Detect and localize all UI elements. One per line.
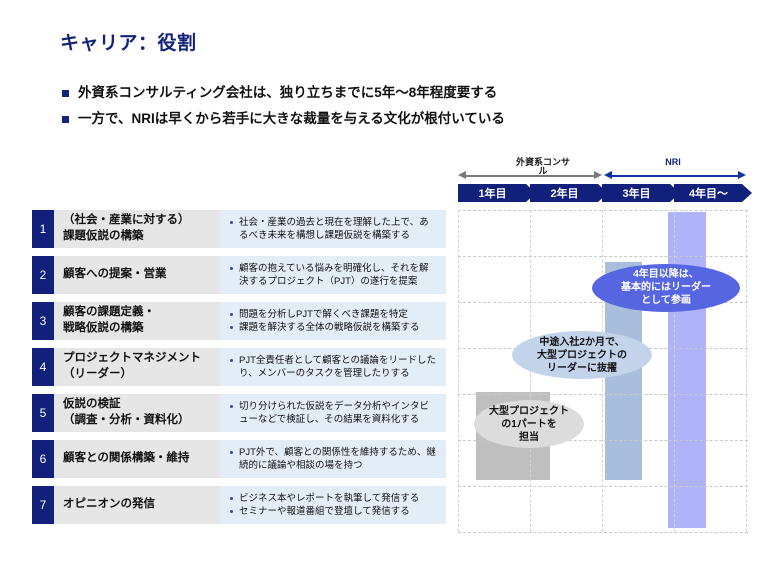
square-bullet-icon (62, 116, 69, 123)
column-separator (458, 210, 459, 532)
row-title: オピニオンの発信 (54, 486, 220, 524)
nri-span-arrow (604, 171, 746, 180)
dot-bullet-icon (230, 221, 233, 224)
row-title: 顧客との関係構築・維持 (54, 440, 220, 478)
column-separator (746, 210, 747, 532)
row-separator (458, 532, 748, 533)
span-label-nri: NRI (613, 158, 733, 167)
row-title: 仮説の検証 （調査・分析・資料化） (54, 394, 220, 432)
description-text: セミナーや報道番組で登壇して発信する (239, 505, 438, 518)
description-text: 課題を解決する全体の戦略仮説を構築する (239, 321, 438, 334)
description-text: 社会・産業の過去と現在を理解した上で、あるべき未来を構想し課題仮説を構築する (239, 216, 438, 243)
row-description: 顧客の抱えている悩みを明確化し、それを解決するプロジェクト（PJT）の遂行を提案 (220, 256, 446, 294)
description-line: 問題を分析しPJTで解くべき課題を特定 (230, 308, 438, 321)
row-title: （社会・産業に対する） 課題仮説の構築 (54, 210, 220, 248)
description-text: 切り分けられた仮説をデータ分析やインタビューなどで検証し、その結果を資料化する (239, 400, 438, 427)
description-line: 切り分けられた仮説をデータ分析やインタビューなどで検証し、その結果を資料化する (230, 400, 438, 427)
row-separator (458, 486, 748, 487)
bullet-item: 外資系コンサルティング会社は、独り立ちまでに5年～8年程度要する (62, 84, 702, 102)
table-row[interactable]: 7 オピニオンの発信 ビジネス本やレポートを執筆して発信する セミナーや報道番組… (32, 486, 446, 524)
row-description: ビジネス本やレポートを執筆して発信する セミナーや報道番組で登壇して発信する (220, 486, 446, 524)
callout-project-part: 大型プロジェクト の1パートを 担当 (474, 400, 584, 448)
description-line: ビジネス本やレポートを執筆して発信する (230, 492, 438, 505)
consulting-span-arrow (458, 171, 602, 180)
table-row[interactable]: 1 （社会・産業に対する） 課題仮説の構築 社会・産業の過去と現在を理解した上で… (32, 210, 446, 248)
dot-bullet-icon (230, 326, 233, 329)
column-separator (674, 210, 675, 532)
description-line: PJT全責任者として顧客との議論をリードしたり、メンバーのタスクを管理したりする (230, 354, 438, 381)
row-description: PJT外で、顧客との関係性を維持するため、継続的に議論や相談の場を持つ (220, 440, 446, 478)
description-text: PJT全責任者として顧客との議論をリードしたり、メンバーのタスクを管理したりする (239, 354, 438, 381)
dot-bullet-icon (230, 451, 233, 454)
row-separator (458, 210, 748, 211)
row-number: 2 (32, 256, 54, 294)
description-line: セミナーや報道番組で登壇して発信する (230, 505, 438, 518)
callout-leader-role: 4年目以降は、 基本的にはリーダー として参画 (592, 264, 740, 312)
table-row[interactable]: 2 顧客への提案・営業 顧客の抱えている悩みを明確化し、それを解決するプロジェク… (32, 256, 446, 294)
description-line: 課題を解決する全体の戦略仮説を構築する (230, 321, 438, 334)
dot-bullet-icon (230, 510, 233, 513)
dot-bullet-icon (230, 267, 233, 270)
table-row[interactable]: 5 仮説の検証 （調査・分析・資料化） 切り分けられた仮説をデータ分析やインタビ… (32, 394, 446, 432)
description-text: ビジネス本やレポートを執筆して発信する (239, 492, 438, 505)
row-number: 1 (32, 210, 54, 248)
year-chevron-1[interactable]: 1年目 (458, 184, 536, 202)
dot-bullet-icon (230, 313, 233, 316)
callout-text: 4年目以降は、 基本的にはリーダー として参画 (621, 268, 711, 307)
description-text: 顧客の抱えている悩みを明確化し、それを解決するプロジェクト（PJT）の遂行を提案 (239, 262, 438, 289)
timeline-header: 外資系コンサ ル NRI 1年目 2年目 3年目 4年目～ (458, 158, 748, 208)
dot-bullet-icon (230, 359, 233, 362)
row-description: PJT全責任者として顧客との議論をリードしたり、メンバーのタスクを管理したりする (220, 348, 446, 386)
table-row[interactable]: 3 顧客の課題定義・ 戦略仮説の構築 問題を分析しPJTで解くべき課題を特定 課… (32, 302, 446, 340)
year-chevron-group: 1年目 2年目 3年目 4年目～ (458, 184, 748, 202)
year-chevron-4[interactable]: 4年目～ (674, 184, 752, 202)
dot-bullet-icon (230, 405, 233, 408)
callout-promotion: 中途入社2か月で、 大型プロジェクトの リーダーに抜擢 (512, 331, 652, 379)
description-line: 顧客の抱えている悩みを明確化し、それを解決するプロジェクト（PJT）の遂行を提案 (230, 262, 438, 289)
description-text: 問題を分析しPJTで解くべき課題を特定 (239, 308, 438, 321)
square-bullet-icon (62, 90, 69, 97)
description-text: PJT外で、顧客との関係性を維持するため、継続的に議論や相談の場を持つ (239, 446, 438, 473)
bullet-text: 外資系コンサルティング会社は、独り立ちまでに5年～8年程度要する (78, 84, 497, 102)
description-line: PJT外で、顧客との関係性を維持するため、継続的に議論や相談の場を持つ (230, 446, 438, 473)
dot-bullet-icon (230, 497, 233, 500)
row-description: 問題を分析しPJTで解くべき課題を特定 課題を解決する全体の戦略仮説を構築する (220, 302, 446, 340)
page-title: キャリア：役割 (60, 28, 197, 55)
row-title: プロジェクトマネジメント （リーダー） (54, 348, 220, 386)
row-description: 切り分けられた仮説をデータ分析やインタビューなどで検証し、その結果を資料化する (220, 394, 446, 432)
year-chevron-3[interactable]: 3年目 (602, 184, 680, 202)
row-number: 7 (32, 486, 54, 524)
row-description: 社会・産業の過去と現在を理解した上で、あるべき未来を構想し課題仮説を構築する (220, 210, 446, 248)
row-title: 顧客の課題定義・ 戦略仮説の構築 (54, 302, 220, 340)
row-number: 3 (32, 302, 54, 340)
table-row[interactable]: 6 顧客との関係構築・維持 PJT外で、顧客との関係性を維持するため、継続的に議… (32, 440, 446, 478)
callout-text: 中途入社2か月で、 大型プロジェクトの リーダーに抜擢 (537, 336, 627, 375)
bullet-list: 外資系コンサルティング会社は、独り立ちまでに5年～8年程度要する 一方で、NRI… (62, 84, 702, 136)
bullet-text: 一方で、NRIは早くから若手に大きな裁量を与える文化が根付いている (78, 110, 505, 128)
row-number: 6 (32, 440, 54, 478)
bullet-item: 一方で、NRIは早くから若手に大きな裁量を与える文化が根付いている (62, 110, 702, 128)
callout-text: 大型プロジェクト の1パートを 担当 (489, 405, 569, 444)
row-separator (458, 256, 748, 257)
row-separator (458, 394, 748, 395)
row-title: 顧客への提案・営業 (54, 256, 220, 294)
row-number: 5 (32, 394, 54, 432)
year-chevron-2[interactable]: 2年目 (530, 184, 608, 202)
table-row[interactable]: 4 プロジェクトマネジメント （リーダー） PJT全責任者として顧客との議論をリ… (32, 348, 446, 386)
description-line: 社会・産業の過去と現在を理解した上で、あるべき未来を構想し課題仮説を構築する (230, 216, 438, 243)
row-number: 4 (32, 348, 54, 386)
